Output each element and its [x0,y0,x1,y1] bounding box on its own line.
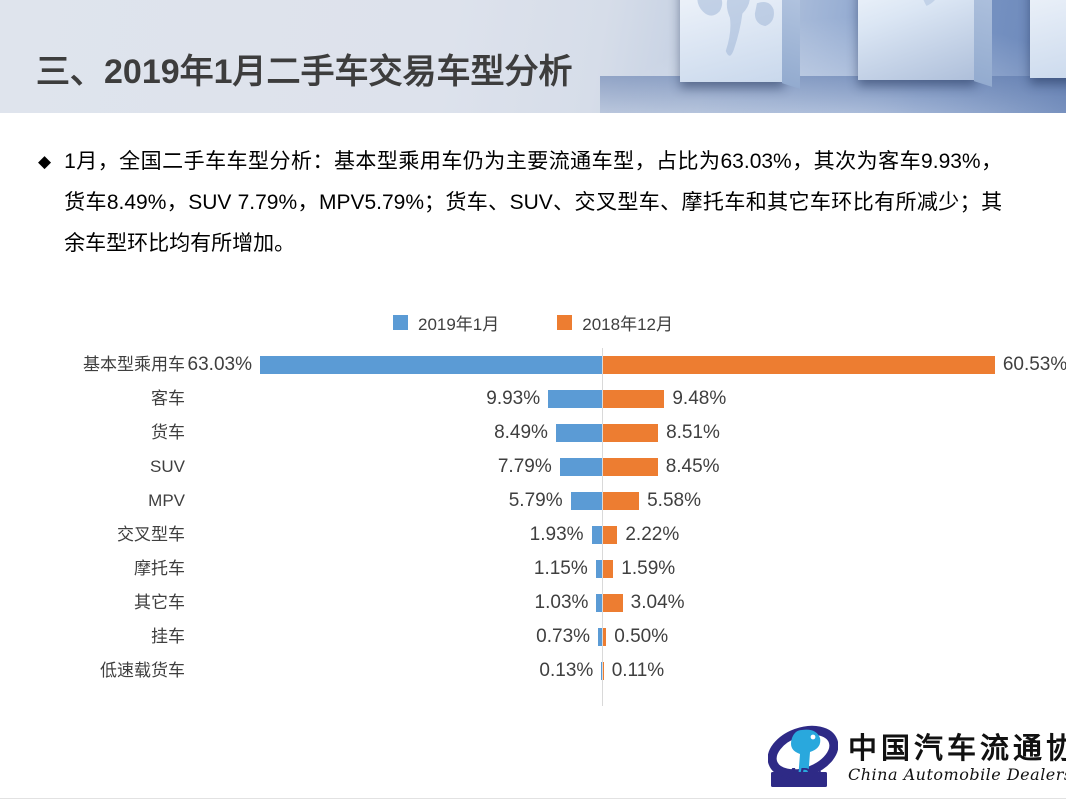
chart-category-label: 其它车 [0,586,185,620]
header-floor-shadow [600,76,1066,113]
bar-current-month [560,458,602,476]
bar-current-month [601,662,602,680]
bullet-paragraph: ◆ 1月，全国二手车车型分析：基本型乘用车仍为主要流通车型，占比为63.03%，… [38,141,1028,264]
bar-value-label-previous: 2.22% [625,518,679,552]
page-title: 三、2019年1月二手车交易车型分析 [36,44,573,93]
bar-current-month [571,492,602,510]
chart-row: 摩托车1.15%1.59% [0,552,1066,586]
chart-legend: 2019年1月 2018年12月 [0,310,1066,335]
chart-category-label: 客车 [0,382,185,416]
footer-divider [0,798,1066,799]
bar-current-month [598,628,602,646]
bar-current-month [592,526,602,544]
cube-side [974,0,992,87]
world-map-icon [858,0,976,72]
cada-logo: CADA 中国汽车流通协会 China Automobile Dealers A… [768,722,1060,792]
chart-row: 挂车0.73%0.50% [0,620,1066,654]
bar-value-label-current: 0.73% [536,620,590,654]
slide-header-band: 三、2019年1月二手车交易车型分析 [0,0,1066,113]
chart-row: 货车8.49%8.51% [0,416,1066,450]
logo-name-cn: 中国汽车流通协会 [848,725,1066,767]
bar-previous-month [603,526,617,544]
logo-name-en: China Automobile Dealers Association [848,765,1066,784]
decorative-cube-icon [858,0,976,80]
chart-row: 其它车1.03%3.04% [0,586,1066,620]
chart-category-label: 摩托车 [0,552,185,586]
legend-swatch-icon [393,315,408,330]
chart-category-label: 低速载货车 [0,654,185,688]
chart-row: 基本型乘用车63.03%60.53% [0,348,1066,382]
legend-label: 2019年1月 [418,310,499,335]
bar-value-label-current: 1.15% [534,552,588,586]
bar-previous-month [603,560,613,578]
bar-value-label-current: 1.03% [535,586,589,620]
bar-value-label-current: 1.93% [530,518,584,552]
bar-value-label-current: 5.79% [509,484,563,518]
bar-value-label-current: 0.13% [539,654,593,688]
bar-previous-month [603,628,606,646]
bar-value-label-previous: 9.48% [672,382,726,416]
bar-previous-month [603,390,664,408]
bar-previous-month [603,662,604,680]
bar-value-label-current: 9.93% [486,382,540,416]
legend-swatch-icon [557,315,572,330]
bar-value-label-previous: 3.04% [631,586,685,620]
bar-current-month [260,356,602,374]
bar-value-label-previous: 5.58% [647,484,701,518]
bar-value-label-previous: 8.51% [666,416,720,450]
bar-value-label-previous: 60.53% [1003,348,1066,382]
decorative-cube-icon [1030,0,1066,78]
chart-row: SUV7.79%8.45% [0,450,1066,484]
chart-row: MPV5.79%5.58% [0,484,1066,518]
legend-item-current: 2019年1月 [393,310,499,335]
world-map-icon [680,0,784,76]
decorative-cube-icon [680,0,784,82]
bar-current-month [596,594,602,612]
chart-row: 低速载货车0.13%0.11% [0,654,1066,688]
legend-label: 2018年12月 [582,310,673,335]
bar-current-month [596,560,602,578]
chart-row: 客车9.93%9.48% [0,382,1066,416]
bar-previous-month [603,356,995,374]
bar-previous-month [603,492,639,510]
legend-item-previous: 2018年12月 [557,310,673,335]
bar-previous-month [603,458,658,476]
bar-current-month [548,390,602,408]
bar-value-label-current: 8.49% [494,416,548,450]
bar-value-label-previous: 8.45% [666,450,720,484]
bar-previous-month [603,424,658,442]
chart-row: 交叉型车1.93%2.22% [0,518,1066,552]
bar-value-label-previous: 0.50% [614,620,668,654]
cube-side [782,0,800,89]
logo-abbrev: CADA [774,766,824,784]
bar-value-label-previous: 0.11% [612,654,664,688]
bar-current-month [556,424,602,442]
chart-category-label: 基本型乘用车 [0,348,185,382]
diverging-bar-chart: 基本型乘用车63.03%60.53%客车9.93%9.48%货车8.49%8.5… [0,348,1066,710]
chart-category-label: 交叉型车 [0,518,185,552]
chart-category-label: 货车 [0,416,185,450]
chart-category-label: 挂车 [0,620,185,654]
slide: 三、2019年1月二手车交易车型分析 ◆ 1月，全国二手车车型分析：基本型乘用车… [0,0,1066,803]
bar-value-label-current: 7.79% [498,450,552,484]
bar-value-label-current: 63.03% [188,348,252,382]
diamond-bullet-icon: ◆ [38,141,51,182]
chart-category-label: MPV [0,484,185,518]
analysis-paragraph-text: 1月，全国二手车车型分析：基本型乘用车仍为主要流通车型，占比为63.03%，其次… [64,141,1002,264]
chart-category-label: SUV [0,450,185,484]
bar-value-label-previous: 1.59% [621,552,675,586]
bar-previous-month [603,594,623,612]
